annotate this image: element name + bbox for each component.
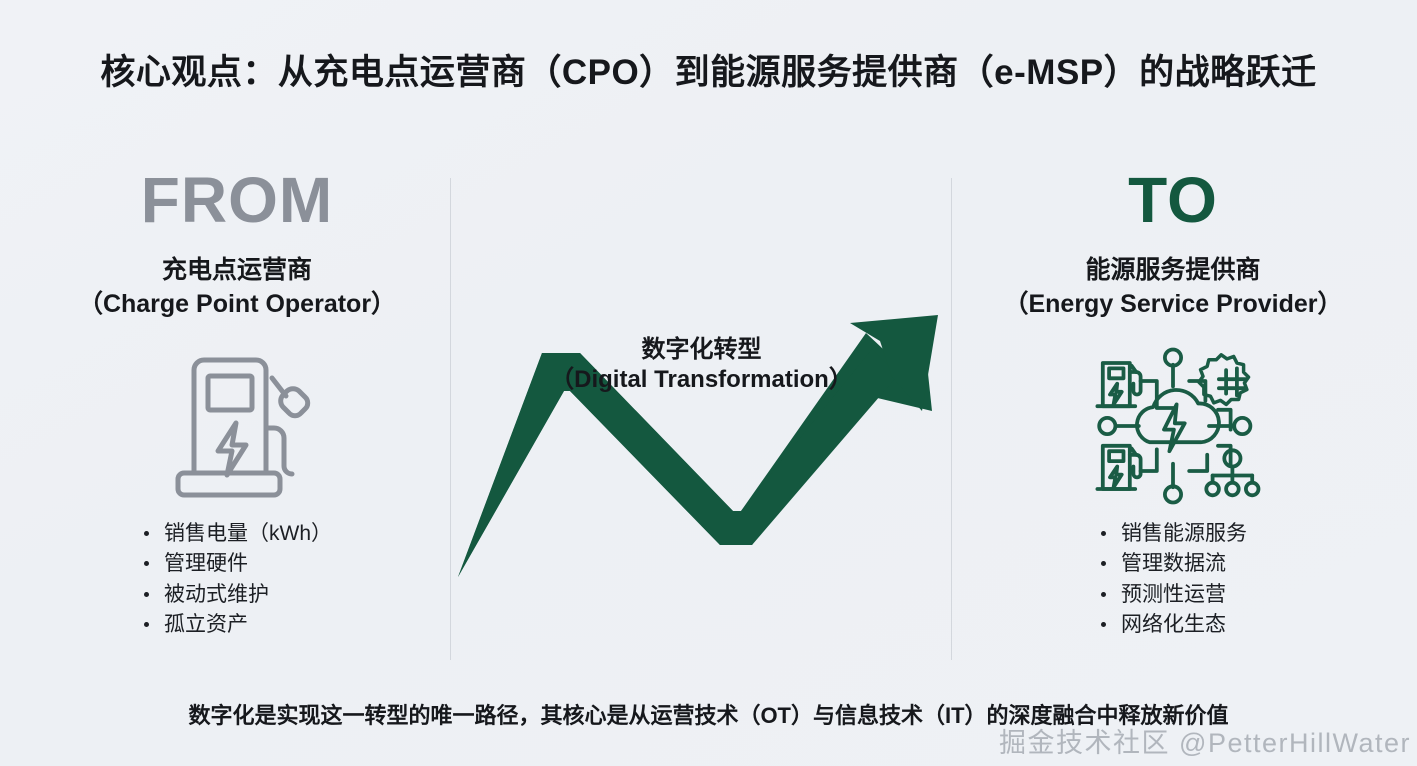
to-column: TO 能源服务提供商 （Energy Service Provider） xyxy=(958,160,1388,641)
footer-note: 数字化是实现这一转型的唯一路径，其核心是从运营技术（OT）与信息技术（IT）的深… xyxy=(0,698,1417,730)
ev-charging-station-icon xyxy=(162,345,312,507)
list-item: 预测性运营 xyxy=(1099,580,1247,610)
from-bullet-list: 销售电量（kWh） 管理硬件 被动式维护 孤立资产 xyxy=(142,519,332,641)
to-bullet-list: 销售能源服务 管理数据流 预测性运营 网络化生态 xyxy=(1099,519,1247,641)
to-kicker: TO xyxy=(958,168,1388,232)
connected-energy-network-icon xyxy=(1083,345,1263,507)
from-title-cn: 充电点运营商 xyxy=(22,256,452,286)
transformation-label-en: （Digital Transformation） xyxy=(452,365,951,395)
list-item: 被动式维护 xyxy=(142,580,332,610)
list-item: 网络化生态 xyxy=(1099,610,1247,640)
transformation-label: 数字化转型 （Digital Transformation） xyxy=(452,335,951,395)
from-kicker: FROM xyxy=(22,168,452,232)
list-item: 销售能源服务 xyxy=(1099,519,1247,549)
page-title: 核心观点：从充电点运营商（CPO）到能源服务提供商（e-MSP）的战略跃迁 xyxy=(0,44,1417,95)
list-item: 销售电量（kWh） xyxy=(142,519,332,549)
from-column: FROM 充电点运营商 （Charge Point Operator） xyxy=(22,160,452,641)
transformation-zone: 数字化转型 （Digital Transformation） xyxy=(452,160,951,660)
list-item: 管理硬件 xyxy=(142,549,332,579)
from-icon-wrap xyxy=(22,341,452,511)
to-title-en: （Energy Service Provider） xyxy=(958,290,1388,320)
list-item: 管理数据流 xyxy=(1099,549,1247,579)
transformation-label-cn: 数字化转型 xyxy=(452,335,951,365)
to-icon-wrap xyxy=(958,341,1388,511)
list-item: 孤立资产 xyxy=(142,610,332,640)
to-title-cn: 能源服务提供商 xyxy=(958,256,1388,286)
from-title-en: （Charge Point Operator） xyxy=(22,290,452,320)
